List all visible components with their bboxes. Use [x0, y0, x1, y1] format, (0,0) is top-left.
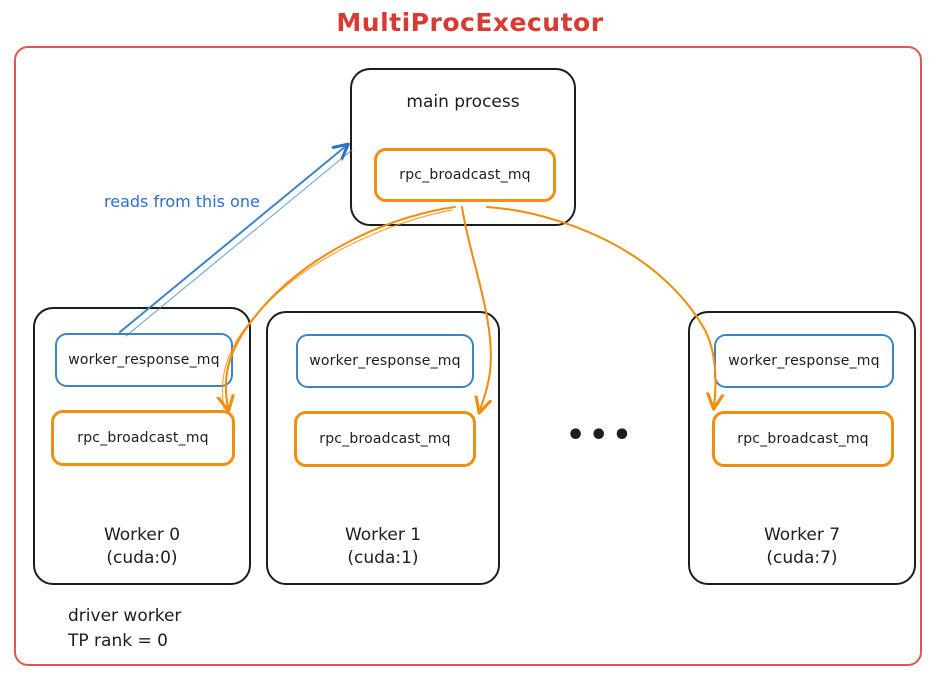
worker-1-response-mq-box[interactable]: worker_response_mq — [296, 334, 474, 388]
reads-from-annotation: reads from this one — [104, 192, 260, 211]
workers-ellipsis: ••• — [566, 418, 636, 453]
worker-1-response-mq-label: worker_response_mq — [309, 353, 460, 369]
driver-worker-note: driver worker TP rank = 0 — [68, 604, 181, 653]
worker-1-box: worker_response_mq rpc_broadcast_mq Work… — [266, 311, 500, 585]
worker-1-label: Worker 1 (cuda:1) — [268, 524, 498, 570]
page-title: MultiProcExecutor — [0, 8, 940, 37]
worker-0-label: Worker 0 (cuda:0) — [35, 524, 249, 570]
worker-0-rpc-broadcast-mq-box[interactable]: rpc_broadcast_mq — [51, 410, 235, 466]
main-process-box: main process rpc_broadcast_mq — [350, 68, 576, 226]
worker-1-rpc-broadcast-mq-box[interactable]: rpc_broadcast_mq — [294, 411, 476, 467]
worker-7-rpc-broadcast-mq-box[interactable]: rpc_broadcast_mq — [712, 411, 894, 467]
worker-7-label: Worker 7 (cuda:7) — [690, 524, 914, 570]
worker-7-response-mq-box[interactable]: worker_response_mq — [714, 334, 894, 388]
worker-0-box: worker_response_mq rpc_broadcast_mq Work… — [33, 307, 251, 585]
worker-0-response-mq-box[interactable]: worker_response_mq — [55, 333, 233, 387]
worker-0-rpc-broadcast-mq-label: rpc_broadcast_mq — [77, 430, 209, 446]
worker-7-rpc-broadcast-mq-label: rpc_broadcast_mq — [737, 431, 869, 447]
worker-7-box: worker_response_mq rpc_broadcast_mq Work… — [688, 311, 916, 585]
main-rpc-broadcast-mq-box[interactable]: rpc_broadcast_mq — [374, 148, 556, 202]
worker-7-response-mq-label: worker_response_mq — [728, 353, 879, 369]
main-process-title: main process — [352, 92, 574, 112]
diagram-canvas: MultiProcExecutor main process rpc_broad… — [0, 0, 940, 680]
worker-1-rpc-broadcast-mq-label: rpc_broadcast_mq — [319, 431, 451, 447]
worker-0-response-mq-label: worker_response_mq — [68, 352, 219, 368]
main-rpc-broadcast-mq-label: rpc_broadcast_mq — [399, 167, 531, 183]
